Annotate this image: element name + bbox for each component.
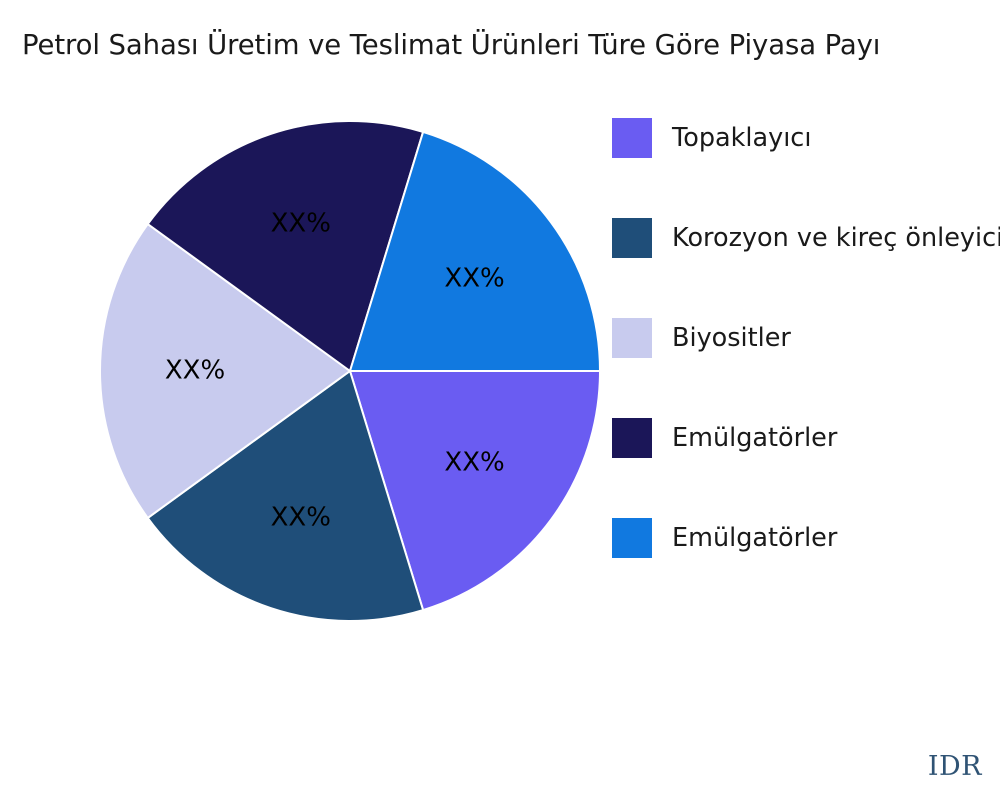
legend-swatch-emulgatorler-1 xyxy=(612,418,652,458)
legend-label-korozyon-ve-kirec-onleyiciler: Korozyon ve kireç önleyiciler xyxy=(672,218,1000,258)
legend-label-biyositler: Biyositler xyxy=(672,318,791,358)
pie-slice-label: XX% xyxy=(444,263,504,293)
pie-chart: XX%XX%XX%XX%XX% xyxy=(0,0,640,760)
chart-page: Petrol Sahası Üretim ve Teslimat Ürünler… xyxy=(0,0,1000,800)
chart-legend: Topaklayıcı Korozyon ve kireç önleyicile… xyxy=(612,110,1000,610)
legend-label-topaklayici: Topaklayıcı xyxy=(672,118,811,158)
legend-swatch-emulgatorler-2 xyxy=(612,518,652,558)
legend-swatch-topaklayici xyxy=(612,118,652,158)
legend-item-biyositler[interactable]: Biyositler xyxy=(612,310,1000,410)
watermark-idr: IDR xyxy=(928,751,982,782)
pie-slice-label: XX% xyxy=(165,356,225,386)
pie-slice-label: XX% xyxy=(444,448,504,478)
pie-svg: XX%XX%XX%XX%XX% xyxy=(0,0,640,760)
legend-label-emulgatorler-2: Emülgatörler xyxy=(672,518,837,558)
legend-item-emulgatorler-2[interactable]: Emülgatörler xyxy=(612,510,1000,610)
legend-item-korozyon-ve-kirec-onleyiciler[interactable]: Korozyon ve kireç önleyiciler xyxy=(612,210,1000,310)
pie-slice-label: XX% xyxy=(271,209,331,239)
legend-item-emulgatorler-1[interactable]: Emülgatörler xyxy=(612,410,1000,510)
legend-label-emulgatorler-1: Emülgatörler xyxy=(672,418,837,458)
legend-swatch-korozyon-ve-kirec-onleyiciler xyxy=(612,218,652,258)
legend-item-topaklayici[interactable]: Topaklayıcı xyxy=(612,110,1000,210)
pie-slice-label: XX% xyxy=(271,503,331,533)
legend-swatch-biyositler xyxy=(612,318,652,358)
